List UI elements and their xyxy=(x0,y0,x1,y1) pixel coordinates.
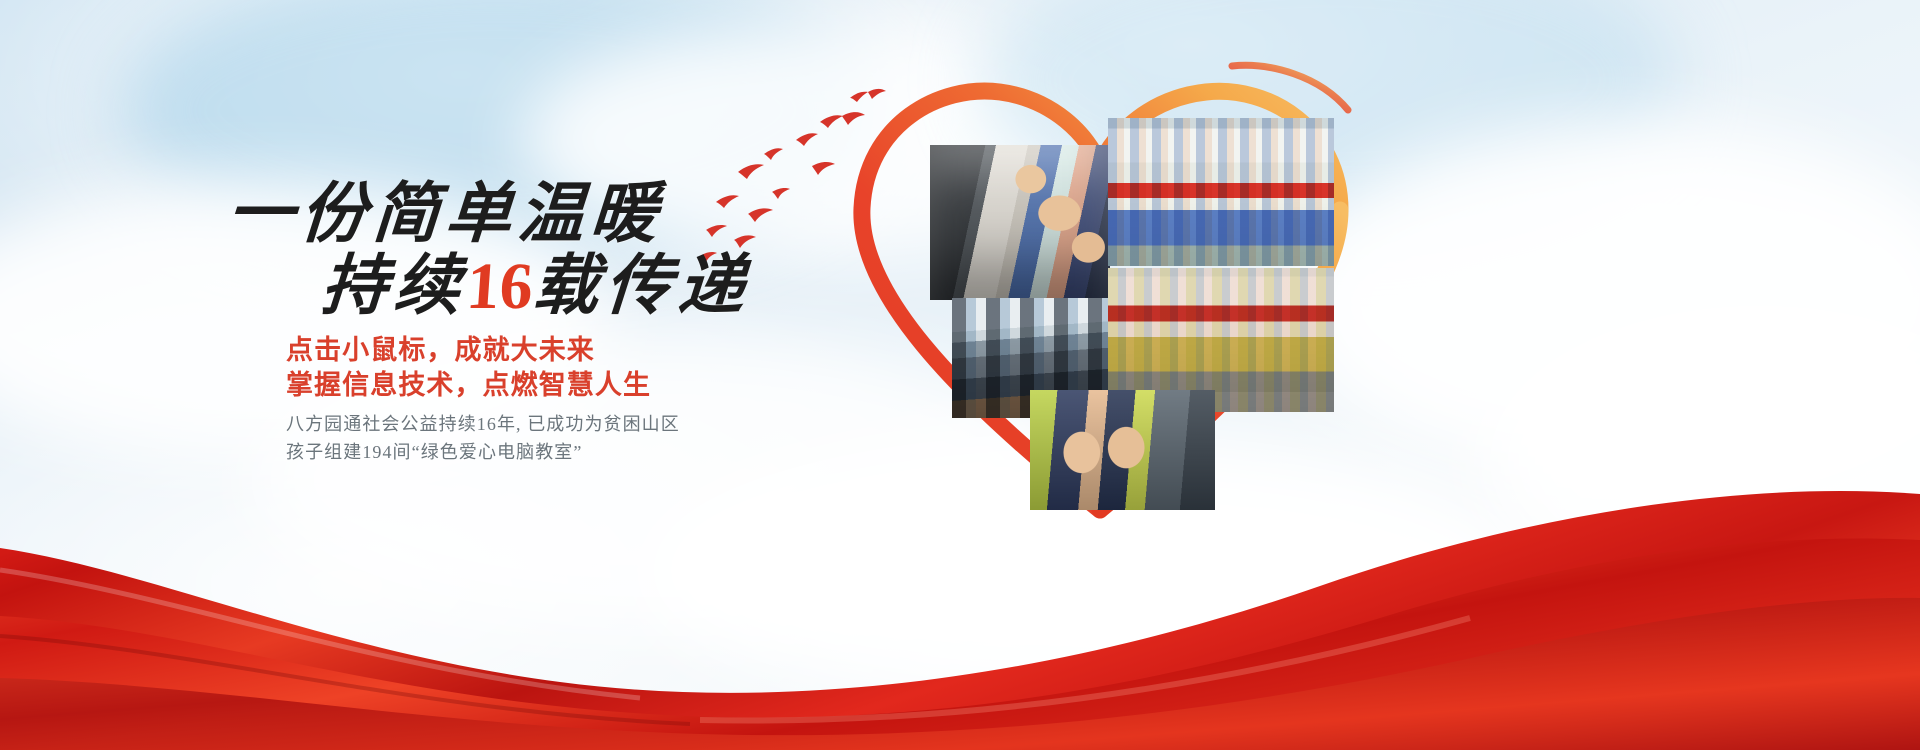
headline-line-2-suffix: 载传递 xyxy=(530,250,753,323)
slogan-line-1: 点击小鼠标，成就大未来 xyxy=(286,328,595,367)
banner-root: 一份简单温暖 持续16载传递 点击小鼠标，成就大未来 掌握信息技术，点燃智慧人生… xyxy=(0,0,1920,750)
slogan-line-2: 掌握信息技术，点燃智慧人生 xyxy=(286,363,651,402)
headline-line-2: 持续16载传递 xyxy=(319,232,755,328)
headline-line-2-prefix: 持续 xyxy=(319,250,469,323)
red-silk-ribbon xyxy=(0,420,1920,750)
photo-school-group-banner xyxy=(1108,118,1334,266)
headline-years-number: 16 xyxy=(464,250,535,323)
photo-computer-lab-closeup xyxy=(930,145,1110,300)
